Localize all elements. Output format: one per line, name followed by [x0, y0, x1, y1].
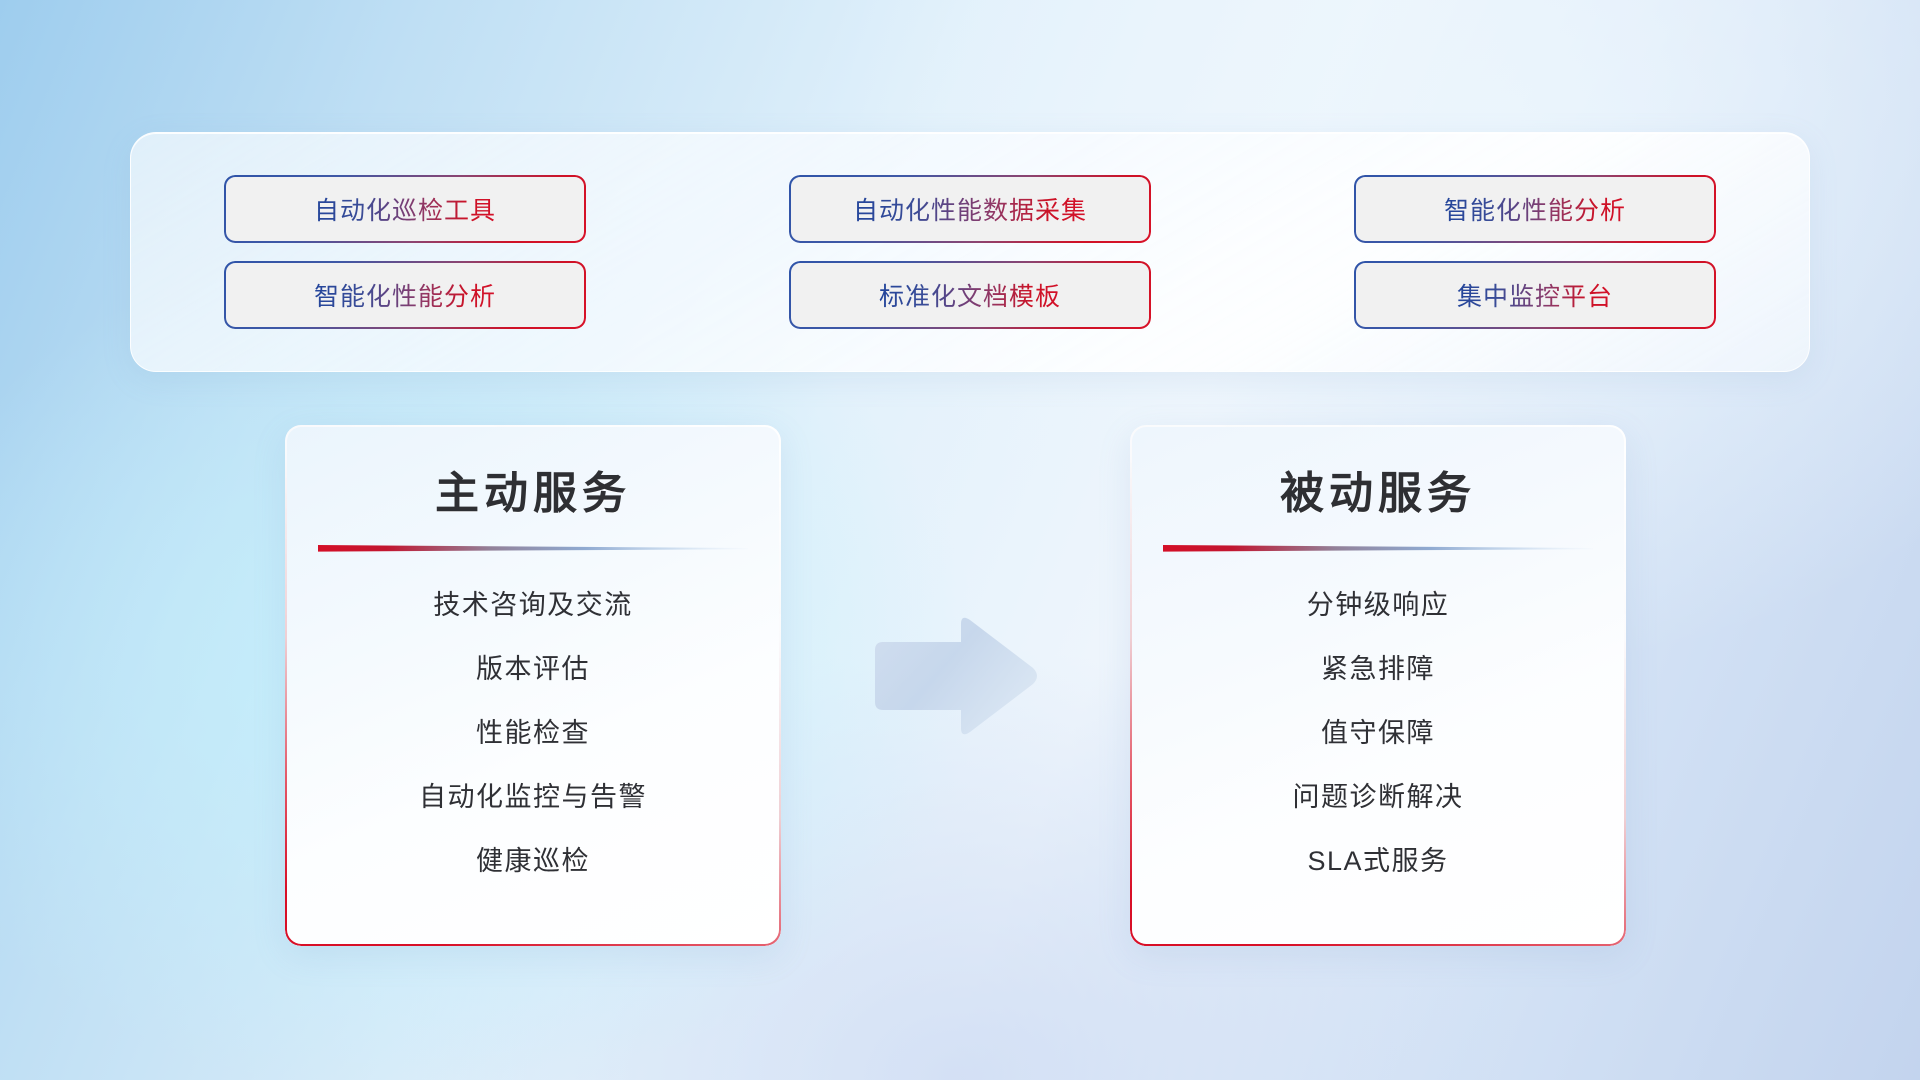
- capability-tag-label: 自动化巡检工具: [314, 191, 496, 227]
- capability-row-2: 智能化性能分析 标准化文档模板 集中监控平台: [226, 263, 1714, 327]
- card-divider: [1163, 543, 1593, 553]
- card-item-list: 分钟级响应 紧急排障 值守保障 问题诊断解决 SLA式服务: [1130, 583, 1626, 878]
- list-item: 紧急排障: [1321, 647, 1435, 686]
- capability-tag-label: 标准化文档模板: [879, 277, 1061, 313]
- list-item: 性能检查: [476, 711, 590, 750]
- capability-tag-label: 自动化性能数据采集: [853, 191, 1087, 227]
- card-title: 被动服务: [1130, 457, 1626, 521]
- list-item: 值守保障: [1321, 711, 1435, 750]
- capability-tag-centralized-monitoring-platform[interactable]: 集中监控平台: [1356, 263, 1714, 327]
- list-item: 版本评估: [476, 647, 590, 686]
- capability-tag-intelligent-perf-analysis-2[interactable]: 智能化性能分析: [226, 263, 584, 327]
- capability-row-1: 自动化巡检工具 自动化性能数据采集 智能化性能分析: [226, 177, 1714, 241]
- list-item: 技术咨询及交流: [433, 583, 633, 622]
- slide-canvas: 自动化巡检工具 自动化性能数据采集 智能化性能分析 智能化性能分析 标准化文档模…: [0, 0, 1920, 1080]
- capability-tag-label: 智能化性能分析: [1444, 191, 1626, 227]
- service-card-reactive[interactable]: 被动服务 分钟级响应 紧急排障 值守保障: [1130, 425, 1626, 946]
- capability-tag-standard-doc-template[interactable]: 标准化文档模板: [791, 263, 1149, 327]
- capability-tag-label: 集中监控平台: [1457, 277, 1613, 313]
- list-item: 问题诊断解决: [1293, 775, 1464, 814]
- service-card-proactive[interactable]: 主动服务 技术咨询及交流 版本评估 性能检查: [285, 425, 781, 946]
- list-item: 自动化监控与告警: [419, 775, 647, 814]
- capability-tag-label: 智能化性能分析: [314, 277, 496, 313]
- card-title: 主动服务: [285, 457, 781, 521]
- card-divider: [318, 543, 748, 553]
- list-item: 分钟级响应: [1307, 583, 1450, 622]
- capability-tag-automated-inspection-tool[interactable]: 自动化巡检工具: [226, 177, 584, 241]
- right-arrow-icon: [865, 612, 1041, 740]
- capability-tag-automated-perf-data-collection[interactable]: 自动化性能数据采集: [791, 177, 1149, 241]
- capability-panel: 自动化巡检工具 自动化性能数据采集 智能化性能分析 智能化性能分析 标准化文档模…: [130, 132, 1810, 372]
- list-item: 健康巡检: [476, 839, 590, 878]
- list-item: SLA式服务: [1307, 839, 1448, 878]
- card-item-list: 技术咨询及交流 版本评估 性能检查 自动化监控与告警 健康巡检: [285, 583, 781, 878]
- capability-tag-intelligent-perf-analysis-1[interactable]: 智能化性能分析: [1356, 177, 1714, 241]
